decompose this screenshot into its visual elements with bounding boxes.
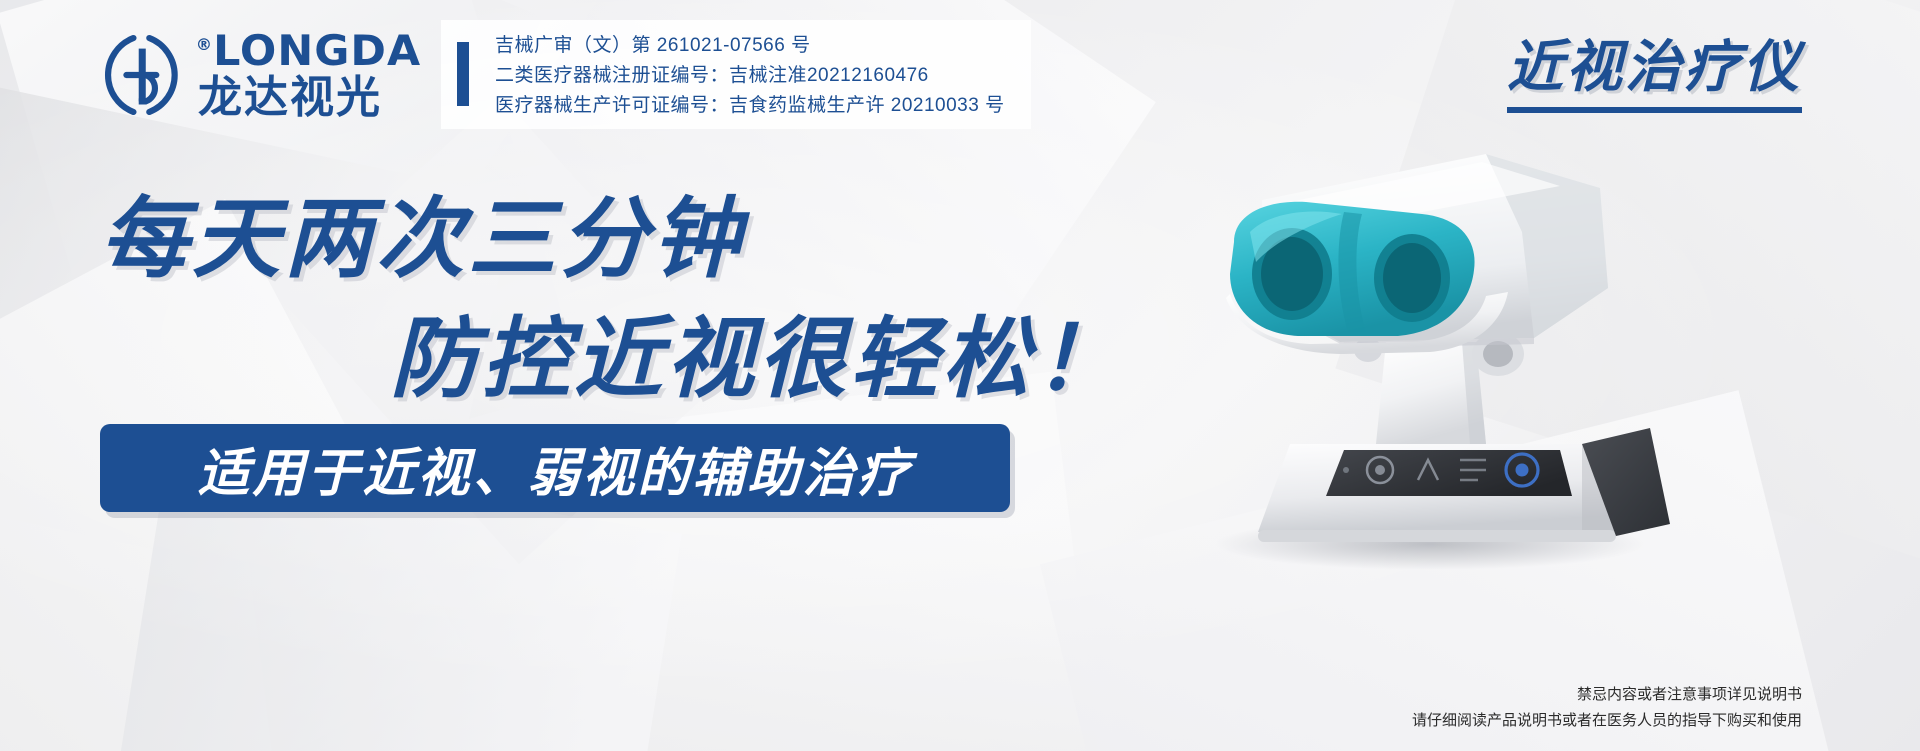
certification-box: 吉械广审（文）第 261021-07566 号 二类医疗器械注册证编号：吉械注准… xyxy=(441,20,1031,129)
regulatory-disclaimer: 禁忌内容或者注意事项详见说明书 请仔细阅读产品说明书或者在医务人员的指导下购买和… xyxy=(1412,682,1802,733)
certification-line-production-license: 医疗器械生产许可证编号：吉食药监械生产许 20210033 号 xyxy=(495,90,1005,117)
myopia-treatment-device-image xyxy=(1130,92,1750,572)
brand-latin-label: LONGDA xyxy=(213,26,421,75)
headline-line-1: 每天两次三分钟 xyxy=(100,168,744,295)
indication-banner: 适用于近视、弱视的辅助治疗 xyxy=(100,424,1010,512)
certification-line-ad-approval: 吉械广审（文）第 261021-07566 号 xyxy=(495,30,1005,57)
product-title-label: 近视治疗仪 xyxy=(1507,22,1802,103)
disclaimer-line-1: 禁忌内容或者注意事项详见说明书 xyxy=(1412,682,1802,708)
brand-chinese-name: 龙达视光 xyxy=(198,76,419,120)
disclaimer-line-2: 请仔细阅读产品说明书或者在医务人员的指导下购买和使用 xyxy=(1412,708,1802,734)
longda-circle-logo-icon xyxy=(100,31,188,119)
headline-line-2: 防控近视很轻松！ xyxy=(390,288,1126,415)
certification-line-registration: 二类医疗器械注册证编号：吉械注准20212160476 xyxy=(495,60,1005,87)
certification-lines: 吉械广审（文）第 261021-07566 号 二类医疗器械注册证编号：吉械注准… xyxy=(495,30,1005,117)
indication-label: 适用于近视、弱视的辅助治疗 xyxy=(197,431,912,506)
banner-header: ®LONGDA 龙达视光 吉械广审（文）第 261021-07566 号 二类医… xyxy=(100,20,1031,129)
brand-logo: ®LONGDA 龙达视光 xyxy=(100,30,419,120)
certification-accent-bar xyxy=(457,42,469,106)
brand-latin-name: ®LONGDA xyxy=(196,30,421,72)
registered-mark-icon: ® xyxy=(196,35,213,54)
brand-logo-text: ®LONGDA 龙达视光 xyxy=(198,30,419,120)
promo-banner: ®LONGDA 龙达视光 吉械广审（文）第 261021-07566 号 二类医… xyxy=(0,0,1920,751)
